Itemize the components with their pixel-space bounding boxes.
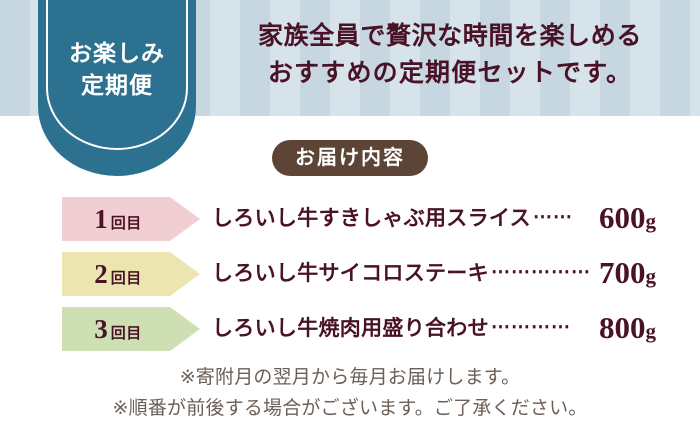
item-weight-value: 600 <box>599 200 646 235</box>
leader-dots: ⋯⋯ <box>533 200 573 236</box>
item-name: しろいし牛サイコロステーキ <box>212 255 489 291</box>
item-name: しろいし牛焼肉用盛り合わせ <box>212 310 489 346</box>
delivery-number-unit: 回目 <box>111 202 142 246</box>
leader-dots: ⋯⋯⋯⋯ <box>491 310 571 346</box>
section-pill: お届け内容 <box>272 140 428 176</box>
delivery-number-unit: 回目 <box>111 257 142 301</box>
item-name: しろいし牛すきしゃぶ用スライス <box>212 200 531 236</box>
item-weight: 800g <box>599 302 656 357</box>
shield-label-line-1: お楽しみ <box>38 38 196 70</box>
delivery-number-badge: 2 回目 <box>62 252 200 296</box>
delivery-number-badge-text: 2 回目 <box>62 252 174 296</box>
delivery-number-badge-text: 3 回目 <box>62 307 174 351</box>
footer-notes: ※寄附月の翌月から毎月お届けします。 ※順番が前後する場合がございます。ご了承く… <box>0 363 700 425</box>
shield-label-line-2: 定期便 <box>38 70 196 102</box>
list-item: 3 回目 しろいし牛焼肉用盛り合わせ ⋯⋯⋯⋯ 800g <box>0 302 700 357</box>
footer-note-2: ※順番が前後する場合がございます。ご了承ください。 <box>0 394 700 425</box>
headline: 家族全員で贅沢な時間を楽しめる おすすめの定期便セットです。 <box>210 18 690 92</box>
list-item: 2 回目 しろいし牛サイコロステーキ ⋯⋯⋯⋯⋯ 700g <box>0 247 700 302</box>
headline-line-1: 家族全員で贅沢な時間を楽しめる <box>210 18 690 55</box>
headline-line-2: おすすめの定期便セットです。 <box>210 55 690 92</box>
delivery-number: 2 <box>94 252 108 296</box>
shield-label: お楽しみ 定期便 <box>38 38 196 101</box>
leader-dots: ⋯⋯⋯⋯⋯ <box>491 255 591 291</box>
delivery-number-badge: 1 回目 <box>62 197 200 241</box>
item-weight: 600g <box>599 192 656 247</box>
item-weight-value: 800 <box>599 310 646 345</box>
item-weight-value: 700 <box>599 255 646 290</box>
item-weight: 700g <box>599 247 656 302</box>
delivery-number-unit: 回目 <box>111 312 142 356</box>
delivery-number-badge-text: 1 回目 <box>62 197 174 241</box>
item-weight-unit: g <box>646 264 657 288</box>
list-item: 1 回目 しろいし牛すきしゃぶ用スライス ⋯⋯ 600g <box>0 192 700 247</box>
shield-shape: お楽しみ 定期便 <box>38 0 196 176</box>
delivery-number: 3 <box>94 307 108 351</box>
item-weight-unit: g <box>646 209 657 233</box>
footer-note-1: ※寄附月の翌月から毎月お届けします。 <box>0 363 700 394</box>
delivery-item-list: 1 回目 しろいし牛すきしゃぶ用スライス ⋯⋯ 600g 2 回目 しろいし牛サ… <box>0 192 700 357</box>
promo-card: 家族全員で贅沢な時間を楽しめる おすすめの定期便セットです。 お楽しみ 定期便 … <box>0 0 700 435</box>
item-weight-unit: g <box>646 319 657 343</box>
shield-badge: お楽しみ 定期便 <box>38 0 196 176</box>
delivery-number-badge: 3 回目 <box>62 307 200 351</box>
delivery-number: 1 <box>94 197 108 241</box>
